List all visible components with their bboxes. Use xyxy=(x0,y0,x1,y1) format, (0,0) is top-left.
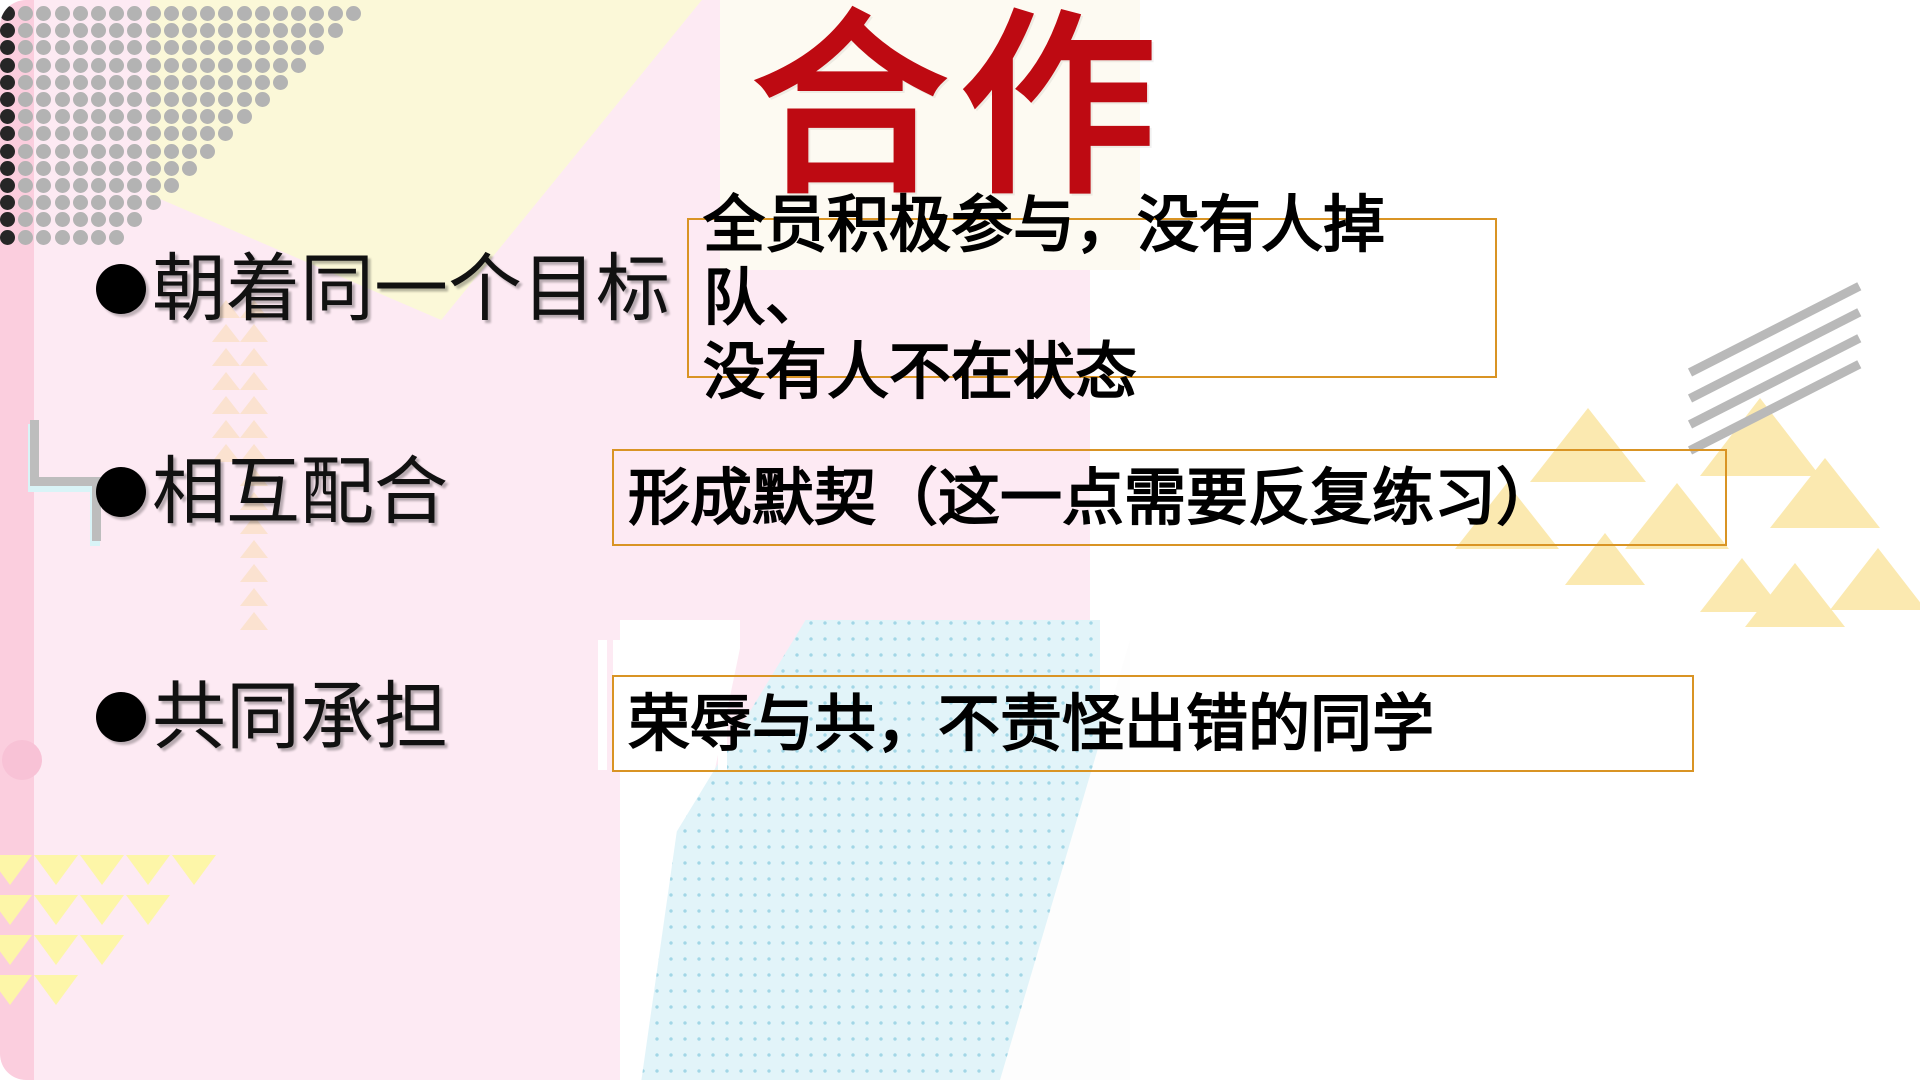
detail-box-1: 全员积极参与，没有人掉队、 没有人不在状态 xyxy=(687,218,1497,378)
decor-dot xyxy=(36,230,51,245)
decor-chevron xyxy=(212,372,240,390)
decor-small-triangle xyxy=(0,935,32,965)
decor-dot xyxy=(36,212,51,227)
decor-chevron xyxy=(212,396,240,414)
detail-text-3: 荣辱与共，不责怪出错的同学 xyxy=(614,683,1448,764)
decor-chevron xyxy=(240,612,268,630)
decor-triangle-grid xyxy=(0,855,270,1080)
decor-small-triangle xyxy=(34,975,78,1005)
decor-chevron xyxy=(240,420,268,438)
bullet-row-2: 相互配合 xyxy=(96,455,448,529)
decor-small-triangle xyxy=(80,895,124,925)
slide-title: 合作 xyxy=(0,10,1920,206)
decor-dot xyxy=(127,212,142,227)
decor-dot xyxy=(55,212,70,227)
bullet-text-3: 共同承担 xyxy=(152,680,448,754)
decor-small-triangle xyxy=(34,935,78,965)
decor-small-triangle xyxy=(0,895,32,925)
decor-chevron xyxy=(240,396,268,414)
decor-chevron xyxy=(212,348,240,366)
bullet-marker-icon-1 xyxy=(96,264,146,314)
decor-dot xyxy=(91,212,106,227)
bullet-text-2: 相互配合 xyxy=(152,455,448,529)
decor-chevron xyxy=(240,540,268,558)
bullet-marker-icon-3 xyxy=(96,692,146,742)
decor-dot xyxy=(73,230,88,245)
decor-dot xyxy=(73,212,88,227)
decor-small-triangle xyxy=(34,855,78,885)
bullet-marker-icon-2 xyxy=(96,467,146,517)
decor-dot xyxy=(0,212,15,227)
decor-small-triangle xyxy=(126,855,170,885)
presentation-slide: 合作 朝着同一个目标 全员积极参与，没有人掉队、 没有人不在状态 相互配合 形成… xyxy=(0,0,1920,1080)
decor-small-triangle xyxy=(34,895,78,925)
decor-dot xyxy=(18,212,33,227)
decor-small-triangle xyxy=(0,975,32,1005)
bullet-label-2: 相互配合 xyxy=(96,455,448,529)
decor-dot xyxy=(0,230,15,245)
decor-small-triangle xyxy=(80,855,124,885)
decor-chevron xyxy=(212,420,240,438)
decor-small-triangle xyxy=(0,855,32,885)
decor-dot xyxy=(109,230,124,245)
decor-pink-circle xyxy=(2,740,42,780)
bullet-label-3: 共同承担 xyxy=(96,680,448,754)
decor-dot xyxy=(55,230,70,245)
detail-box-2: 形成默契（这一点需要反复练习） xyxy=(612,449,1727,546)
bullet-row-1: 朝着同一个目标 xyxy=(96,252,670,326)
decor-chevron xyxy=(240,372,268,390)
detail-box-3: 荣辱与共，不责怪出错的同学 xyxy=(612,675,1694,772)
decor-chevron xyxy=(240,348,268,366)
decor-small-triangle xyxy=(80,935,124,965)
decor-white-bar xyxy=(598,640,607,770)
detail-text-2: 形成默契（这一点需要反复练习） xyxy=(614,457,1572,538)
decor-dot xyxy=(91,230,106,245)
decor-dot xyxy=(18,230,33,245)
bullet-row-3: 共同承担 xyxy=(96,680,448,754)
decor-dot xyxy=(109,212,124,227)
decor-triangle xyxy=(1745,560,1845,627)
detail-text-1: 全员积极参与，没有人掉队、 没有人不在状态 xyxy=(689,184,1495,411)
decor-small-triangle xyxy=(126,895,170,925)
decor-chevron xyxy=(240,588,268,606)
bullet-text-1: 朝着同一个目标 xyxy=(152,252,670,326)
bullet-label-1: 朝着同一个目标 xyxy=(96,252,670,326)
decor-chevron xyxy=(240,564,268,582)
decor-small-triangle xyxy=(172,855,216,885)
